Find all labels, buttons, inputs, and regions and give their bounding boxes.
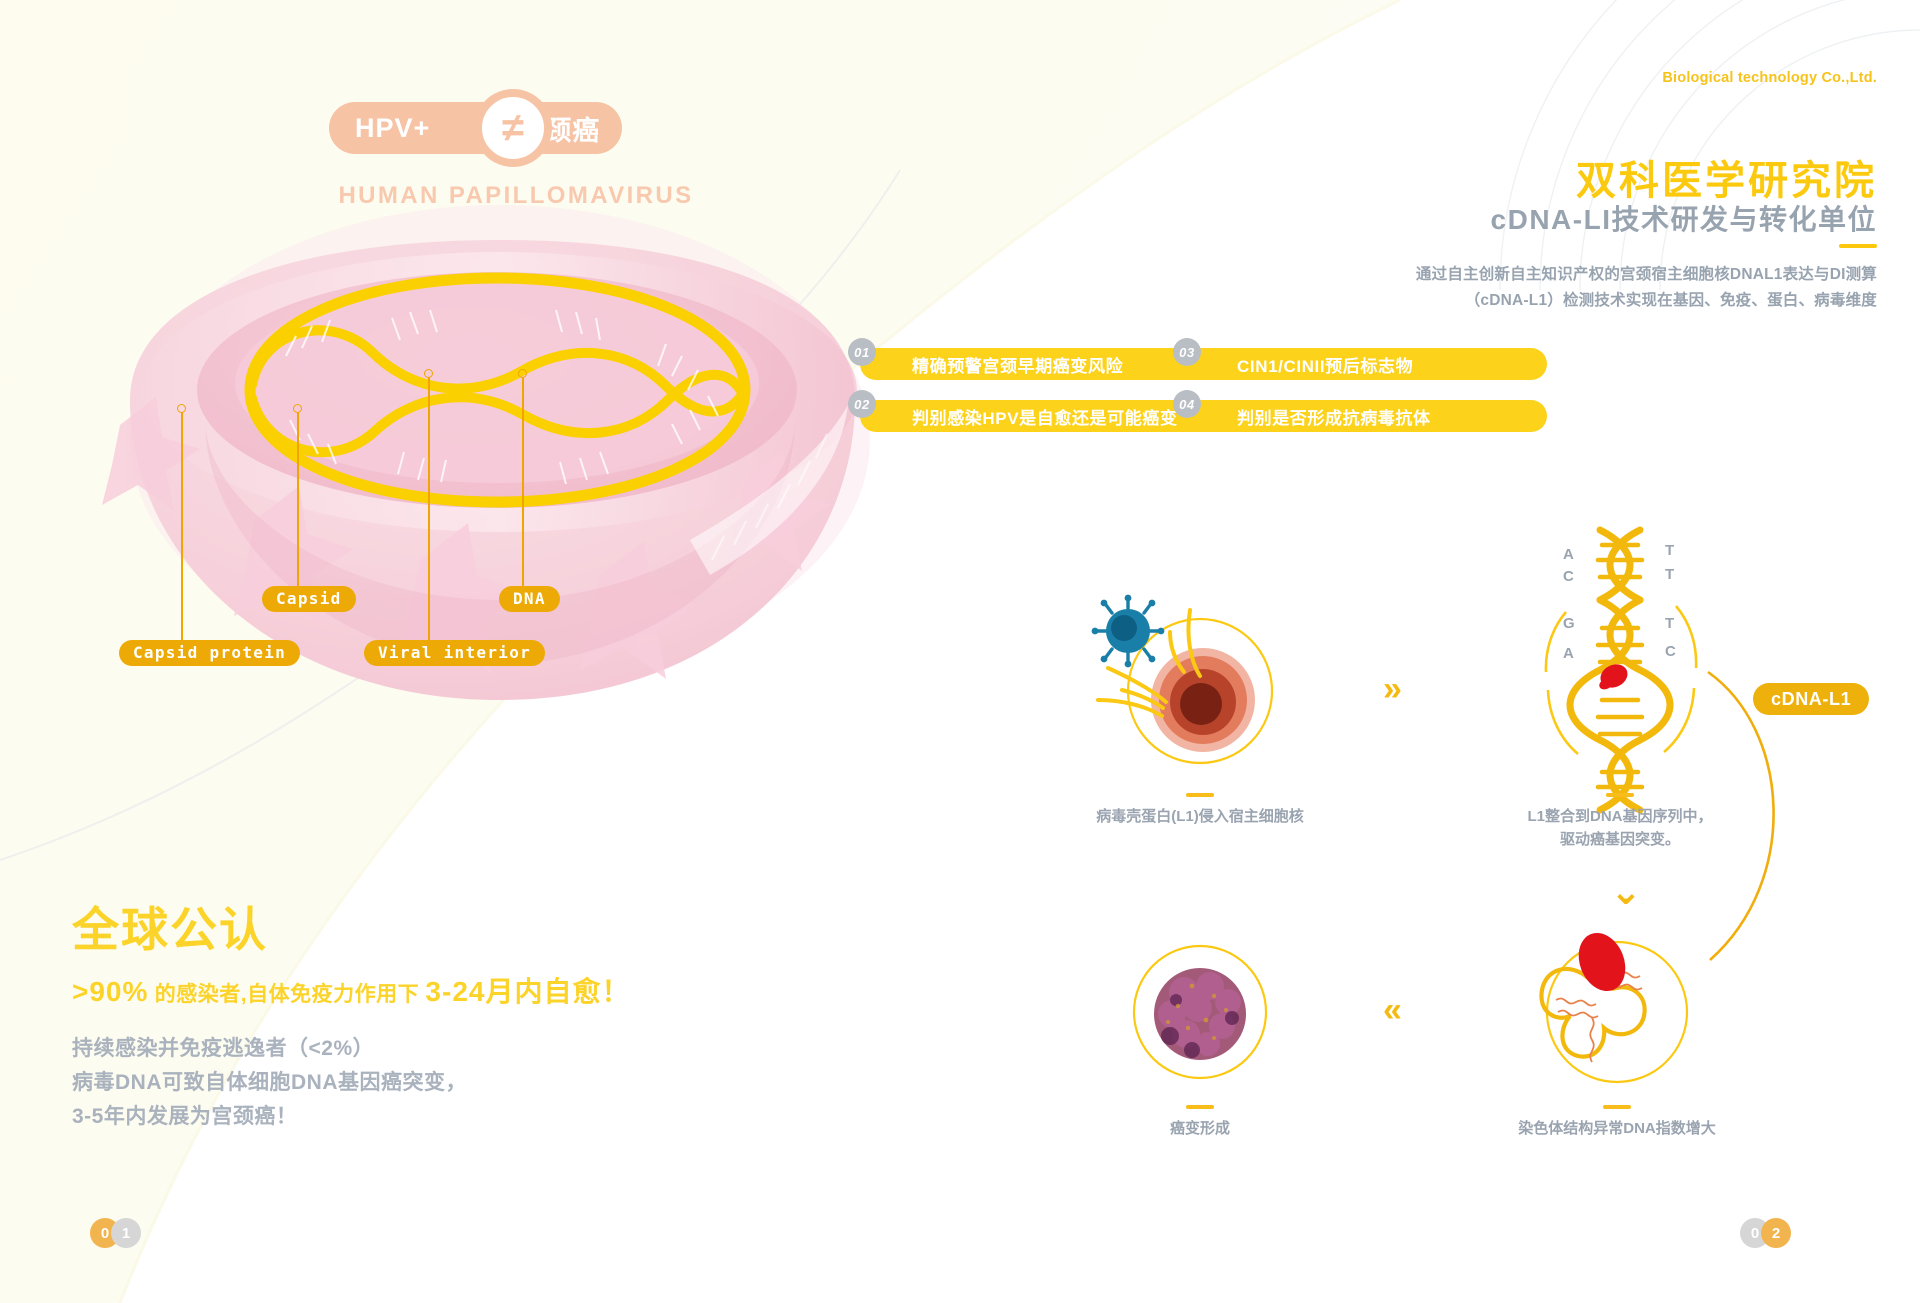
dna-base-left-2: G (1563, 615, 1575, 632)
leader-line-viral-interior (428, 377, 430, 641)
page-dot-second: 1 (111, 1218, 141, 1248)
flow-caption-step-3-text: 染色体结构异常DNA指数增大 (1518, 1120, 1716, 1137)
pin-label-dna: DNA (513, 589, 546, 608)
feature-pill-02[interactable]: 02 判别感染HPV是自愈还是可能癌变 (860, 400, 1222, 432)
flow-caption-step-2: L1整合到DNA基因序列中， 驱动癌基因突变。 (1470, 805, 1770, 852)
arrow-down-glyph: ⌄ (1610, 871, 1642, 913)
flow-caption-step-2-line-1: L1整合到DNA基因序列中， (1470, 805, 1770, 828)
pin-label-capsid-protein: Capsid protein (133, 643, 286, 662)
flow-caption-step-2-line-2: 驱动癌基因突变。 (1470, 828, 1770, 851)
right-page: Biological technology Co.,Ltd. 双科医学研究院 c… (1020, 0, 1920, 1303)
hpv-badge-left-text: HPV+ (355, 113, 430, 144)
global-stat-line: >90% 的感染者,自体免疫力作用下 3-24月内自愈！ (72, 970, 832, 1010)
page-indicator-left: 0 1 (90, 1218, 141, 1248)
arrow-right-icon: » (1383, 672, 1398, 706)
institute-subtitle: cDNA-LI技术研发与转化单位 (1491, 198, 1877, 238)
title-rule-divider (1839, 244, 1877, 248)
arrow-down-icon: ⌄ (1610, 873, 1642, 911)
institute-description-line-1: 通过自主创新自主知识产权的宫颈宿主细胞核DNAL1表达与DI测算 (1403, 262, 1877, 288)
flow-caption-step-1-text: 病毒壳蛋白(L1)侵入宿主细胞核 (1096, 808, 1304, 825)
caption-dash-step-2 (1606, 793, 1634, 797)
global-stat-mid: 的感染者,自体免疫力作用下 (148, 983, 425, 1006)
dna-base-right-3: C (1665, 643, 1676, 660)
feature-label-02: 判别感染HPV是自愈还是可能癌变 (912, 404, 1178, 429)
page-dot-second-right: 2 (1761, 1218, 1791, 1248)
feature-number-04: 04 (1173, 390, 1201, 418)
flow-caption-step-4: 癌变形成 (1050, 1117, 1350, 1140)
left-page: HPV+ 宫颈癌 ≠ HUMAN PAPILLOMAVIRUS Capsid p… (0, 0, 1020, 1303)
feature-number-01: 01 (848, 338, 876, 366)
not-equal-glyph: ≠ (502, 108, 524, 148)
global-body-line-2: 病毒DNA可致自体细胞DNA基因癌突变， (72, 1066, 832, 1100)
hpv-subtitle: HUMAN PAPILLOMAVIRUS (306, 182, 726, 210)
pin-capsid-protein: Capsid protein (119, 640, 300, 666)
feature-label-04: 判别是否形成抗病毒抗体 (1237, 404, 1431, 429)
arrow-left-icon: « (1383, 993, 1398, 1027)
not-equal-icon: ≠ (474, 89, 552, 167)
dna-base-right-1: T (1665, 566, 1674, 583)
arrow-right-glyph: » (1383, 670, 1398, 708)
dna-base-left-3: A (1563, 645, 1574, 662)
arrow-left-glyph: « (1383, 991, 1398, 1029)
caption-dash-step-3 (1603, 1105, 1631, 1109)
global-body-text: 持续感染并免疫逃逸者（<2%） 病毒DNA可致自体细胞DNA基因癌突变， 3-5… (72, 1032, 832, 1134)
pin-viral-interior: Viral interior (364, 640, 545, 666)
leader-line-capsid-protein (181, 412, 183, 641)
global-body-line-1: 持续感染并免疫逃逸者（<2%） (72, 1032, 832, 1066)
cdna-l1-badge-label: cDNA-L1 (1771, 689, 1851, 709)
flow-caption-step-1: 病毒壳蛋白(L1)侵入宿主细胞核 (1050, 805, 1350, 828)
global-recognition-block: 全球公认 >90% 的感染者,自体免疫力作用下 3-24月内自愈！ 持续感染并免… (72, 905, 832, 1134)
cdna-l1-badge: cDNA-L1 (1753, 683, 1869, 715)
feature-pill-03[interactable]: 03 CIN1/CINII预后标志物 (1185, 348, 1547, 380)
feature-number-03: 03 (1173, 338, 1201, 366)
caption-dash-step-1 (1186, 793, 1214, 797)
global-duration: 3-24月内自愈！ (425, 976, 630, 1007)
caption-dash-step-4 (1186, 1105, 1214, 1109)
leader-line-capsid (297, 412, 299, 587)
feature-pill-01[interactable]: 01 精确预警宫颈早期癌变风险 (860, 348, 1222, 380)
pin-capsid: Capsid (262, 586, 356, 612)
dna-base-right-2: T (1665, 615, 1674, 632)
global-percent: >90% (72, 976, 148, 1007)
global-title: 全球公认 (72, 905, 832, 954)
dna-base-left-1: C (1563, 568, 1574, 585)
feature-label-03: CIN1/CINII预后标志物 (1237, 352, 1413, 377)
flow-caption-step-4-text: 癌变形成 (1170, 1120, 1230, 1137)
global-body-line-3: 3-5年内发展为宫颈癌！ (72, 1100, 832, 1134)
page-indicator-right: 0 2 (1740, 1218, 1791, 1248)
pin-label-capsid: Capsid (276, 589, 342, 608)
institute-description-line-2: （cDNA-L1）检测技术实现在基因、免疫、蛋白、病毒维度 (1403, 288, 1877, 314)
company-name: Biological technology Co.,Ltd. (1662, 70, 1877, 86)
dna-base-left-0: A (1563, 546, 1574, 563)
pin-dna: DNA (499, 586, 560, 612)
dna-base-right-0: T (1665, 542, 1674, 559)
feature-number-02: 02 (848, 390, 876, 418)
feature-label-01: 精确预警宫颈早期癌变风险 (912, 352, 1123, 377)
infographic-canvas: HPV+ 宫颈癌 ≠ HUMAN PAPILLOMAVIRUS Capsid p… (0, 0, 1920, 1303)
feature-pill-04[interactable]: 04 判别是否形成抗病毒抗体 (1185, 400, 1547, 432)
flow-caption-step-3: 染色体结构异常DNA指数增大 (1467, 1117, 1767, 1140)
leader-line-dna (522, 377, 524, 587)
pin-label-viral-interior: Viral interior (378, 643, 531, 662)
institute-description: 通过自主创新自主知识产权的宫颈宿主细胞核DNAL1表达与DI测算 （cDNA-L… (1403, 262, 1877, 313)
